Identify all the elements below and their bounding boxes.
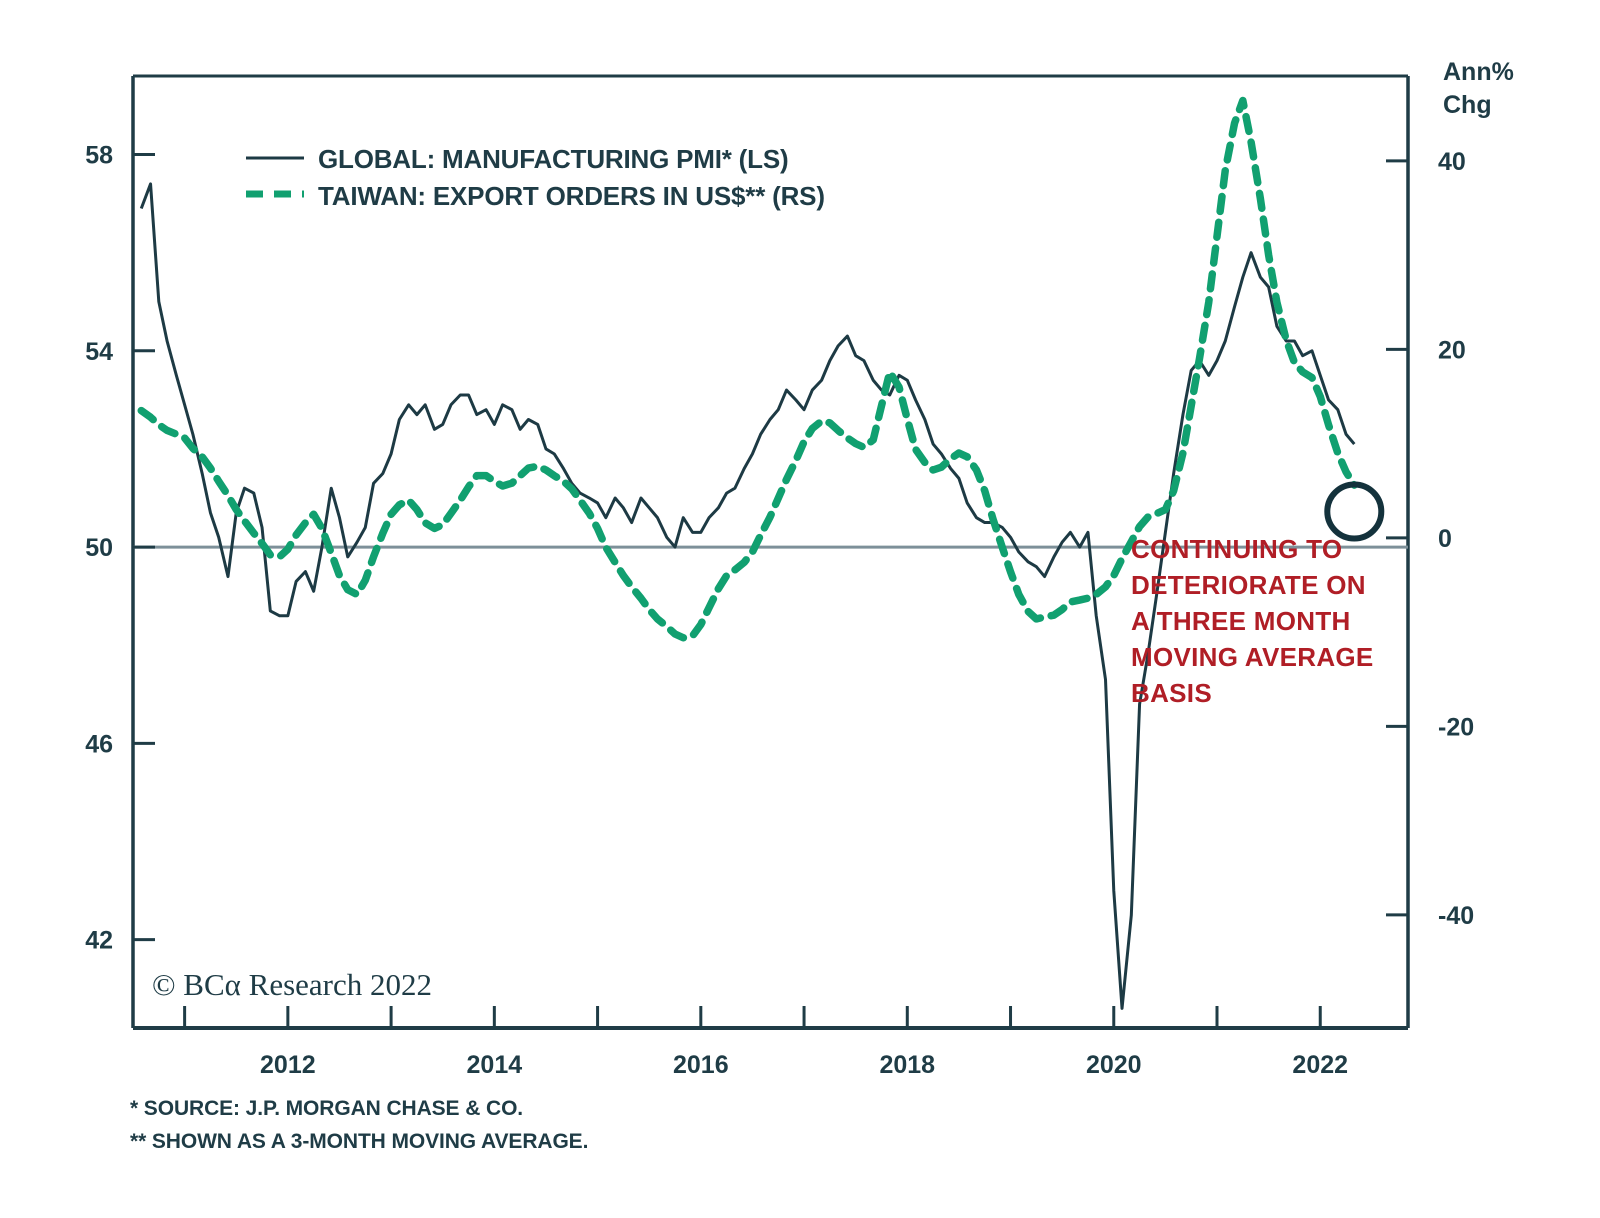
right-tick-label: -20 [1438,713,1474,741]
right-tick-label: 40 [1438,148,1466,176]
right-tick-label: -40 [1438,902,1474,930]
right-axis-title-line1: Ann% [1443,58,1514,86]
bottom-tick-label: 2018 [879,1051,935,1079]
right-tick-label: 0 [1438,525,1452,553]
bottom-tick-label: 2016 [673,1051,729,1079]
annotation-line-5: BASIS [1131,678,1212,708]
bottom-tick-label: 2022 [1292,1051,1348,1079]
right-tick-label: 20 [1438,336,1466,364]
copyright-notice: © BCα Research 2022 [152,967,432,1002]
left-tick-label: 54 [85,338,113,366]
left-tick-label: 46 [85,730,113,758]
annotation-line-1: CONTINUING TO [1131,534,1342,564]
chart-figure: 5854504642 40200-20-40 20122014201620182… [0,0,1600,1218]
right-axis-title-line2: Chg [1443,91,1492,119]
annotation-line-4: MOVING AVERAGE [1131,642,1374,672]
legend-label-pmi: GLOBAL: MANUFACTURING PMI* (LS) [318,144,788,174]
bottom-tick-label: 2012 [260,1051,316,1079]
footnote-moving-average: ** SHOWN AS A 3-MONTH MOVING AVERAGE. [130,1130,588,1153]
bottom-tick-label: 2014 [467,1051,523,1079]
bottom-tick-label: 2020 [1086,1051,1142,1079]
legend-label-taiwan: TAIWAN: EXPORT ORDERS IN US$** (RS) [318,181,825,211]
annotation-line-3: A THREE MONTH [1131,606,1351,636]
left-tick-label: 50 [85,534,113,562]
footnote-source: * SOURCE: J.P. MORGAN CHASE & CO. [130,1097,523,1120]
chart-svg: 5854504642 40200-20-40 20122014201620182… [0,0,1600,1218]
left-tick-label: 58 [85,142,113,170]
annotation-line-2: DETERIORATE ON [1131,570,1366,600]
left-tick-label: 42 [85,927,113,955]
